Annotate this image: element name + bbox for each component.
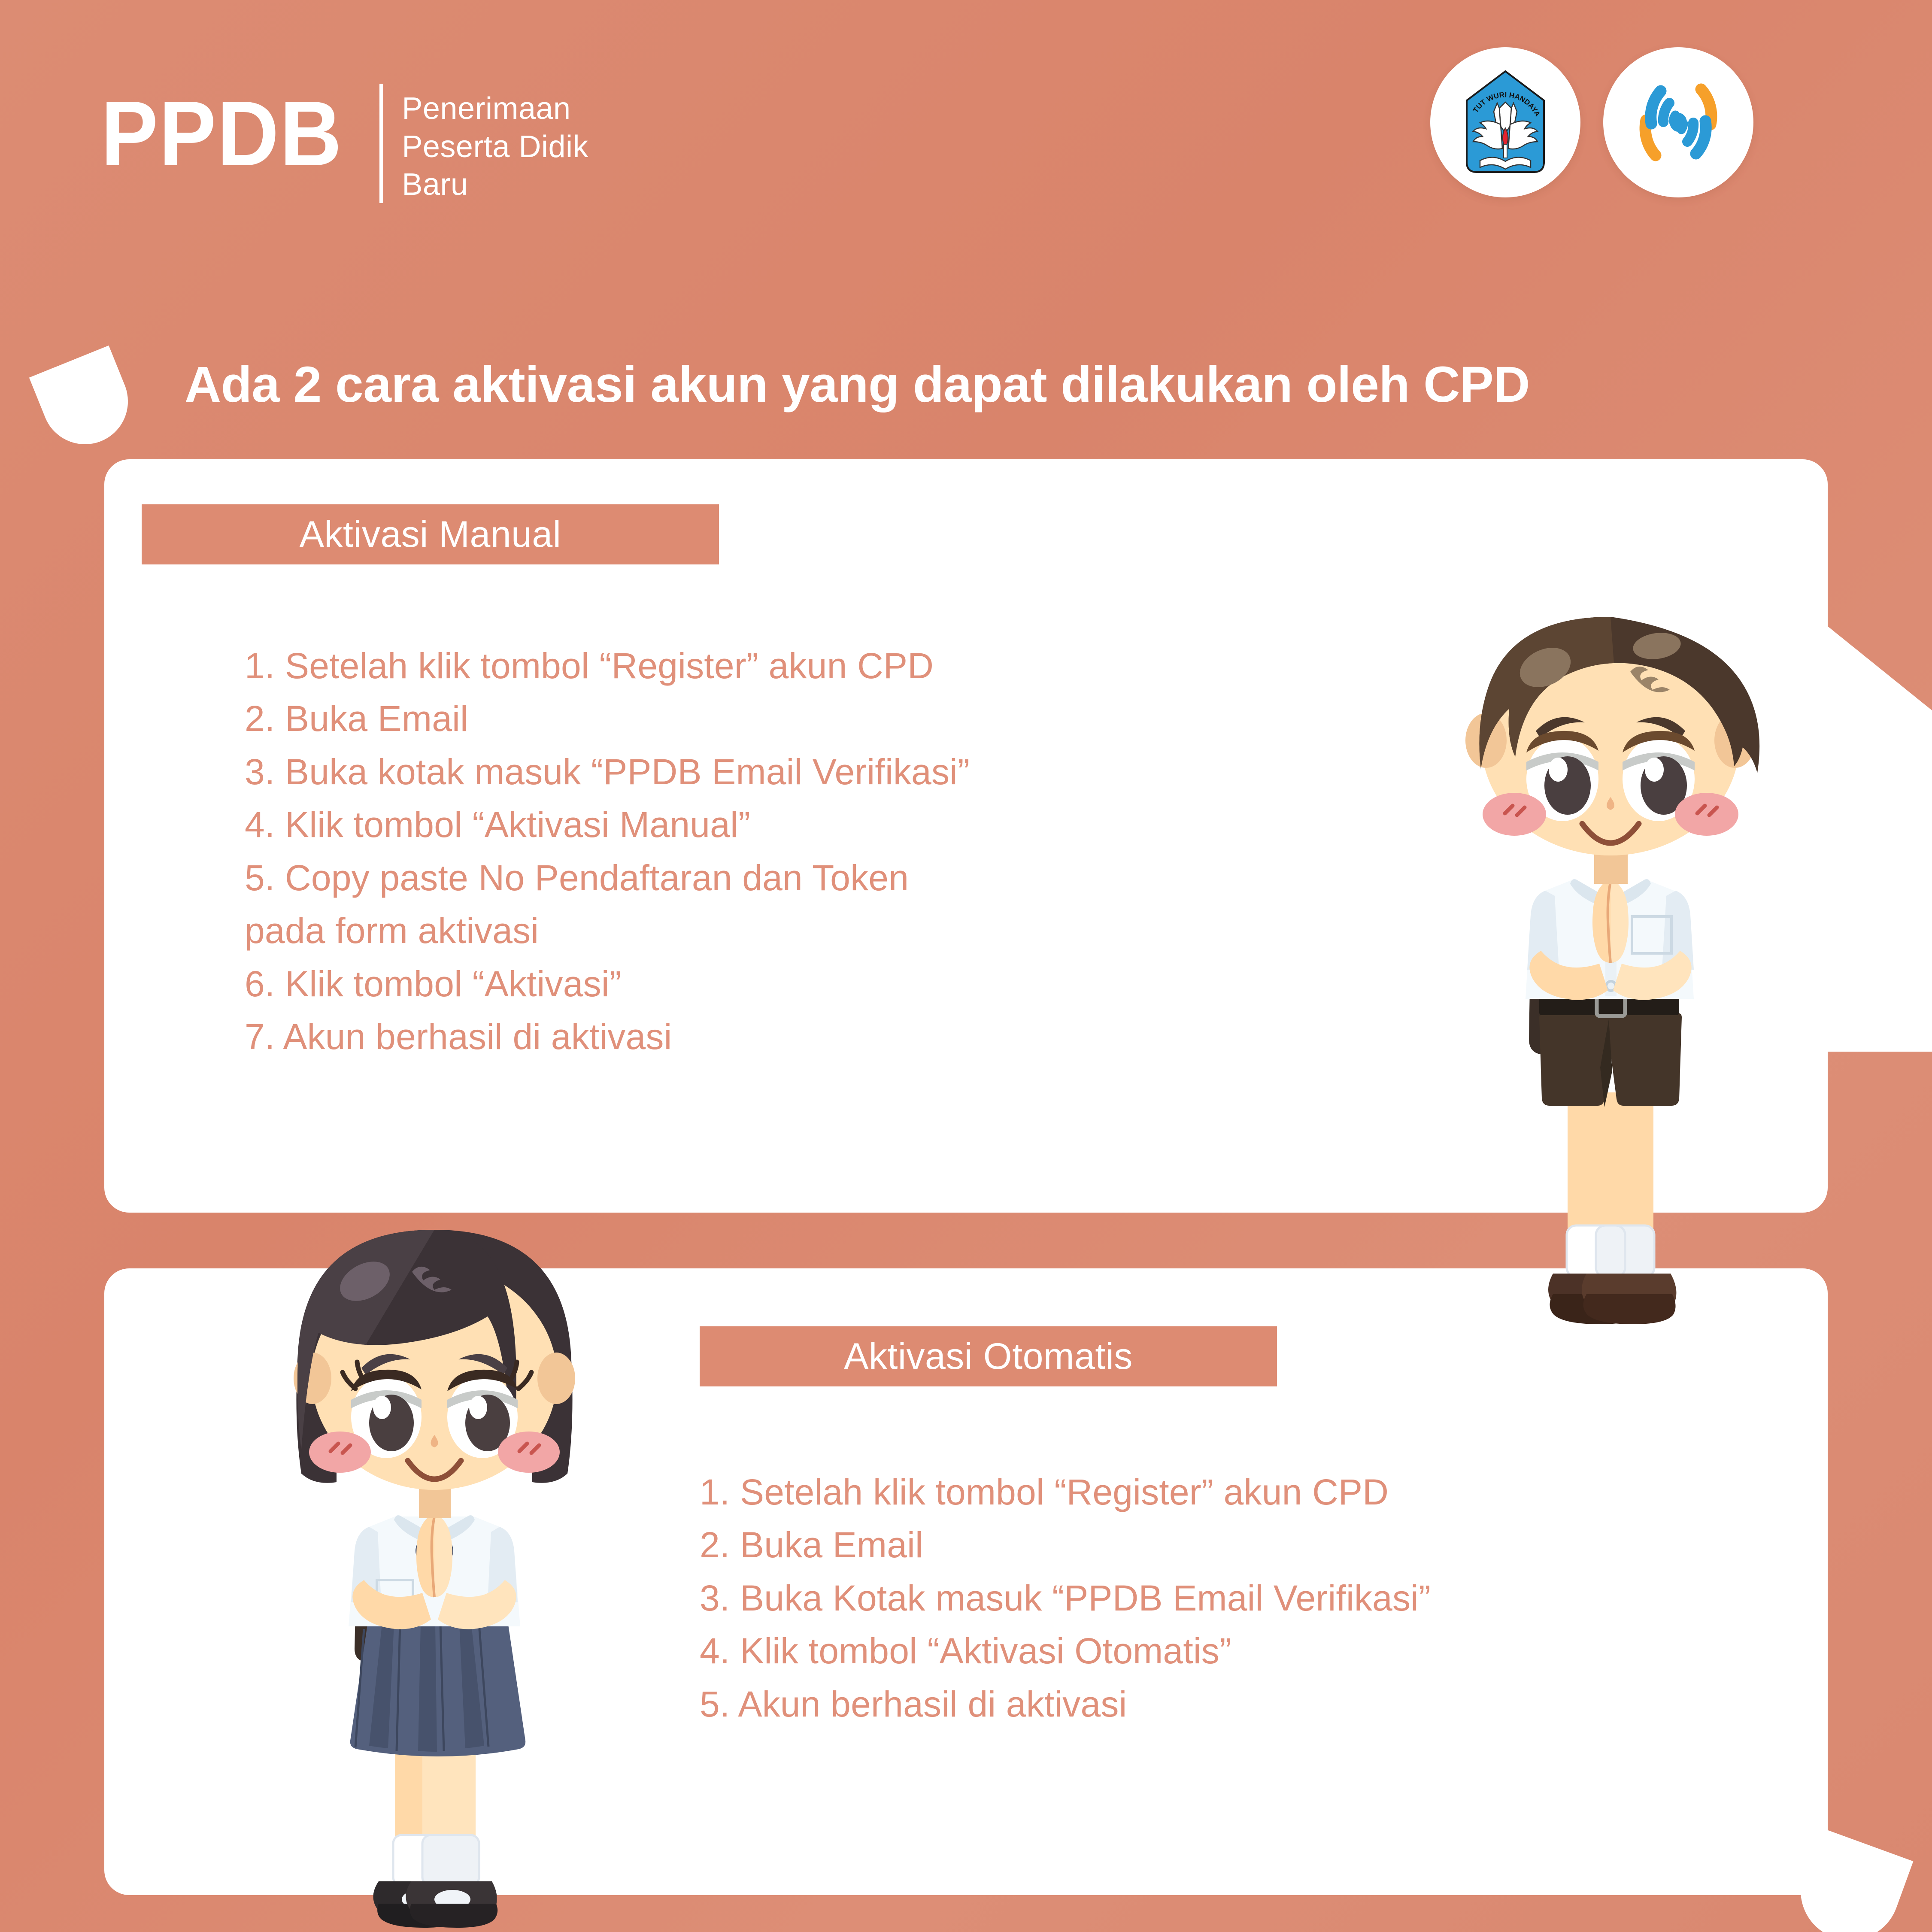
page-title: Ada 2 cara aktivasi akun yang dapat dila… (185, 355, 1530, 414)
list-item: 3. Buka Kotak masuk “PPDB Email Verifika… (700, 1572, 1730, 1625)
schoolboy-icon (1416, 539, 1803, 1337)
list-item: 3. Buka kotak masuk “PPDB Email Verifika… (245, 746, 1318, 798)
badge-aktivasi-manual: Aktivasi Manual (142, 504, 719, 564)
list-item: 1. Setelah klik tombol “Register” akun C… (700, 1466, 1730, 1519)
brand-lockup: PPDB Penerimaan Peserta Didik Baru (101, 79, 588, 204)
steps-list-manual: 1. Setelah klik tombol “Register” akun C… (245, 640, 1318, 1064)
decorative-half-circle (29, 346, 141, 457)
brand-subtitle: Penerimaan Peserta Didik Baru (402, 79, 588, 204)
schoolboy-illustration (1416, 539, 1803, 1337)
brand-acronym: PPDB (101, 79, 343, 204)
schoolgirl-icon (240, 1174, 627, 1932)
list-item: 5. Akun berhasil di aktivasi (700, 1678, 1730, 1731)
badge-aktivasi-otomatis: Aktivasi Otomatis (700, 1326, 1277, 1386)
tut-wuri-handayani-logo: TUT WURI HANDAYANI (1430, 47, 1580, 197)
list-item: 5. Copy paste No Pendaftaran dan Token p… (245, 852, 1318, 958)
list-item: 4. Klik tombol “Aktivasi Manual” (245, 798, 1318, 851)
headline-row: Ada 2 cara aktivasi akun yang dapat dila… (0, 343, 1932, 446)
list-item: 2. Buka Email (700, 1519, 1730, 1571)
list-item: 4. Klik tombol “Aktivasi Otomatis” (700, 1625, 1730, 1677)
ppdb-wave-icon (1625, 69, 1732, 176)
schoolgirl-illustration (240, 1174, 627, 1932)
list-item: 1. Setelah klik tombol “Register” akun C… (245, 640, 1318, 692)
steps-list-otomatis: 1. Setelah klik tombol “Register” akun C… (700, 1466, 1730, 1731)
brand-divider (379, 84, 383, 203)
poster-canvas: PPDB Penerimaan Peserta Didik Baru TUT W… (0, 0, 1932, 1932)
header: PPDB Penerimaan Peserta Didik Baru TUT W… (0, 0, 1932, 275)
ppdb-wave-logo (1603, 47, 1753, 197)
list-item: 2. Buka Email (245, 692, 1318, 745)
list-item: 6. Klik tombol “Aktivasi” (245, 958, 1318, 1010)
wave-center-dot (1670, 113, 1687, 132)
list-item: 7. Akun berhasil di aktivasi (245, 1010, 1318, 1063)
tut-wuri-handayani-icon: TUT WURI HANDAYANI (1456, 69, 1555, 176)
